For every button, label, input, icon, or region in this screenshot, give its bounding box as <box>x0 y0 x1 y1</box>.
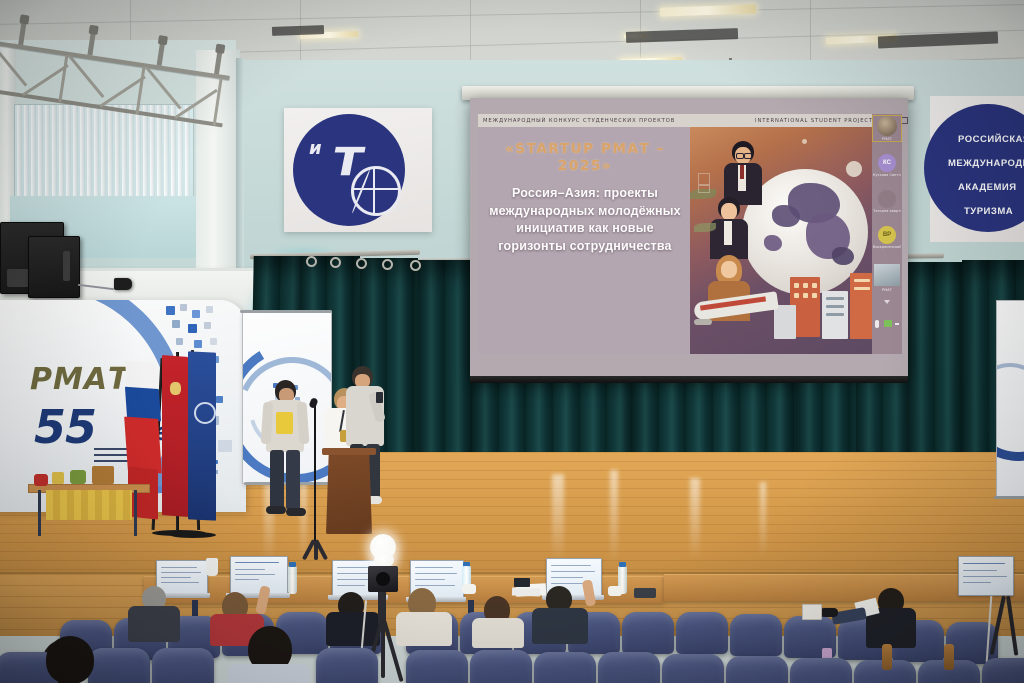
exhibit-items <box>70 470 86 484</box>
auditorium-seat <box>598 652 660 683</box>
audience-torso <box>532 608 588 644</box>
auditorium-seat <box>152 648 214 683</box>
flag-emblem <box>170 382 181 395</box>
bottle-cap <box>619 562 626 567</box>
blue-flag <box>188 351 216 520</box>
presentation-slide: «STARTUP РМАТ – 2025» Россия–Азия: проек… <box>478 127 878 354</box>
auditorium-seat <box>622 612 674 654</box>
audience-head <box>46 636 94 683</box>
wall-outlet <box>802 604 822 620</box>
auditorium-seat <box>470 650 532 683</box>
auditorium-seat <box>730 614 782 656</box>
presenter-leg <box>286 450 300 510</box>
auditorium-seat <box>790 658 852 683</box>
auditorium-seat <box>534 652 596 683</box>
ceiling-light <box>660 4 756 16</box>
chevron-down-icon[interactable] <box>884 300 890 304</box>
participant-tile[interactable]: КС Кускова Светлана <box>873 154 901 177</box>
banner-brand: РМАТ <box>30 362 130 397</box>
russia-flag <box>124 417 162 474</box>
microphone-stand <box>314 406 316 546</box>
more-options-icon[interactable] <box>895 323 899 325</box>
banner-line: ТУРИЗМА <box>964 206 1013 217</box>
rollup-base <box>994 496 1024 499</box>
red-flag <box>162 355 188 517</box>
flag-emblem <box>194 402 216 424</box>
audience-torso <box>472 618 524 648</box>
audience-torso <box>396 612 452 646</box>
academy-name-banner: РОССИЙСКАЯ МЕЖДУНАРОДНАЯ АКАДЕМИЯ ТУРИЗМ… <box>930 96 1024 242</box>
microphone-icon[interactable] <box>875 320 879 328</box>
slide-title: «STARTUP РМАТ – 2025» <box>486 141 684 175</box>
participant-name: РМАТ <box>873 288 901 292</box>
participant-tile[interactable]: РМАТ <box>873 264 901 292</box>
auditorium-seat <box>726 656 788 683</box>
audience-shoe <box>820 608 838 617</box>
header-right-text: INTERNATIONAL STUDENT PROJECT <box>755 118 873 124</box>
laptop-screen[interactable] <box>958 556 1014 596</box>
projector-device <box>634 588 656 598</box>
camera-lens <box>376 572 390 586</box>
exhibit-items <box>34 474 48 486</box>
participant-tile[interactable]: ВР Воскресенский И. <box>873 226 901 249</box>
participant-name: РМАТ <box>873 137 901 141</box>
participants-sidebar[interactable]: РМАТ КС Кускова Светлана Татьяна квартел… <box>872 114 902 354</box>
slide-illustration <box>690 127 878 354</box>
participant-name: Татьяна квартель <box>873 209 901 213</box>
banner-line: МЕЖДУНАРОДНАЯ <box>948 158 1024 169</box>
audience-torso <box>128 606 180 642</box>
camera-icon[interactable] <box>884 320 892 327</box>
presenter-leg <box>270 450 284 510</box>
auditorium-seat <box>88 648 150 683</box>
participant-initials: ВР <box>878 226 896 244</box>
presenter-shoe <box>286 508 306 516</box>
audience-torso <box>228 664 310 683</box>
flag-stand-base <box>170 532 216 538</box>
slide-body-text: Россия–Азия: проекты международных молод… <box>482 185 688 255</box>
paper-cup <box>206 558 218 576</box>
presenter-shoe <box>266 506 286 514</box>
auditorium-photo: и т РОССИЙСКАЯ МЕЖДУНАРОДНАЯ АКАДЕМИЯ ТУ… <box>0 0 1024 683</box>
tshirt-graphic <box>276 412 293 434</box>
conference-app-header: МЕЖДУНАРОДНЫЙ КОНКУРС СТУДЕНЧЕСКИХ ПРОЕК… <box>478 114 878 127</box>
projection-screen: МЕЖДУНАРОДНЫЙ КОНКУРС СТУДЕНЧЕСКИХ ПРОЕК… <box>470 98 908 376</box>
institute-logo-board: и т <box>284 108 432 232</box>
participant-tile[interactable]: Татьяна квартель <box>873 190 901 213</box>
stage-curtain <box>418 260 474 464</box>
participant-tile[interactable]: РМАТ <box>873 116 901 141</box>
papers <box>514 578 530 587</box>
banner-line: АКАДЕМИЯ <box>958 182 1017 193</box>
water-bottle <box>288 566 297 594</box>
tripod-leg <box>381 620 385 678</box>
russia-flag <box>128 466 158 519</box>
banner-years: 55 <box>34 400 96 454</box>
wall-corner <box>236 58 244 298</box>
stage-light-fixture <box>114 278 132 290</box>
table-cloth <box>46 490 132 520</box>
podium-top-surface <box>322 448 376 455</box>
auditorium-seat <box>676 612 728 654</box>
rollup-top-bar <box>240 310 332 313</box>
auditorium-seat <box>406 650 468 683</box>
seat-armrest <box>882 644 892 670</box>
auditorium-seat <box>316 648 378 683</box>
mic-stand-leg <box>314 540 318 560</box>
banner-line: РОССИЙСКАЯ <box>958 134 1024 145</box>
paper-cup <box>462 584 476 594</box>
loudspeaker <box>28 236 80 298</box>
maximize-icon[interactable] <box>901 117 908 124</box>
participant-initials: КС <box>878 154 896 172</box>
bottle-cap <box>289 562 296 567</box>
rollup-banner <box>996 300 1024 498</box>
auditorium-seat <box>982 658 1024 683</box>
exhibit-items <box>92 466 114 484</box>
seat-armrest <box>944 644 954 670</box>
auditorium-seat <box>662 654 724 683</box>
audience-torso <box>326 612 380 646</box>
participant-name: Кускова Светлана <box>873 173 901 177</box>
smartphone[interactable] <box>376 392 383 403</box>
documents-stack <box>512 588 540 597</box>
header-left-text: МЕЖДУНАРОДНЫЙ КОНКУРС СТУДЕНЧЕСКИХ ПРОЕК… <box>483 118 675 124</box>
paper-cup <box>608 586 622 596</box>
participant-name: Воскресенский И. <box>873 245 901 249</box>
speaking-podium <box>326 452 372 534</box>
exhibit-items <box>52 472 64 484</box>
stage-curtain <box>908 262 966 458</box>
